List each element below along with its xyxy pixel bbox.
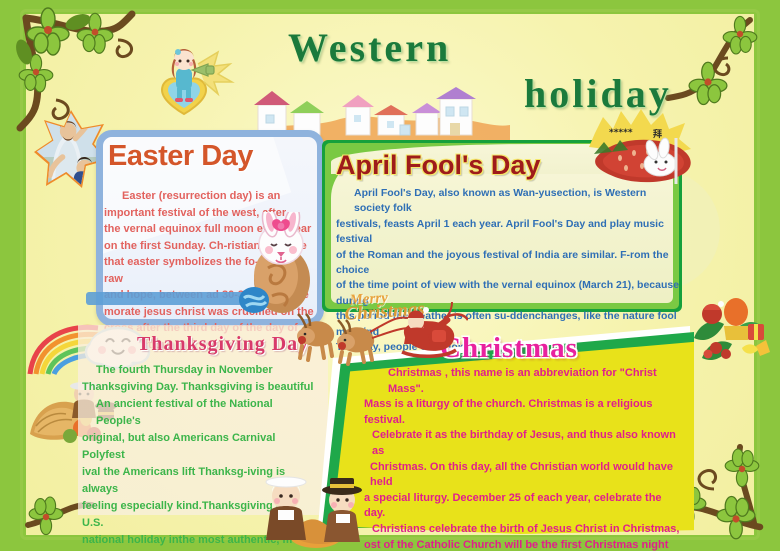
thanksgiving-line: The fourth Thursday in November <box>82 362 318 379</box>
girl-with-trumpet-icon <box>148 38 248 135</box>
pilgrim-children-icon <box>250 460 380 551</box>
thanksgiving-line: Thanksgiving Day. Thanksgiving is beauti… <box>82 379 318 396</box>
christmas-line: Mass is a liturgy of the church. Christm… <box>364 397 682 428</box>
thanksgiving-line: original, but also Americans Carnival Po… <box>82 430 318 464</box>
easter-line: Easter (resurrection day) is an <box>104 188 314 205</box>
easter-title: Easter Day <box>108 140 253 173</box>
christmas-line: Celebrate it as the birthday of Jesus, a… <box>364 428 682 459</box>
santa-sleigh-reindeer-icon <box>292 296 468 375</box>
thanksgiving-line: An ancient festival of the National Peop… <box>82 396 318 430</box>
christmas-body: Christmas , this name is an abbreviation… <box>364 366 682 551</box>
thanksgiving-title: Thanksgiving Day <box>137 333 309 356</box>
easter-panel-bottom-bar <box>86 292 246 305</box>
strawberry-with-rabbit-icon <box>590 128 702 190</box>
christmas-line: Christmas. On this day, all the Christia… <box>364 460 682 491</box>
poster-page: Western holiday <box>0 0 780 551</box>
april-line: of the Roman and the joyous festival of … <box>336 248 684 279</box>
page-title-line1: Western <box>288 24 451 71</box>
christmas-line: ost of the Catholic Church will be the f… <box>364 538 682 551</box>
holly-with-gifts-icon <box>690 292 776 377</box>
april-fools-title: April Fool's Day <box>336 150 540 181</box>
april-line: festivals, feasts April 1 each year. Apr… <box>336 217 684 248</box>
christmas-line: a special liturgy. December 25 of each y… <box>364 491 682 522</box>
christmas-line: Christians celebrate the birth of Jesus … <box>364 522 682 538</box>
